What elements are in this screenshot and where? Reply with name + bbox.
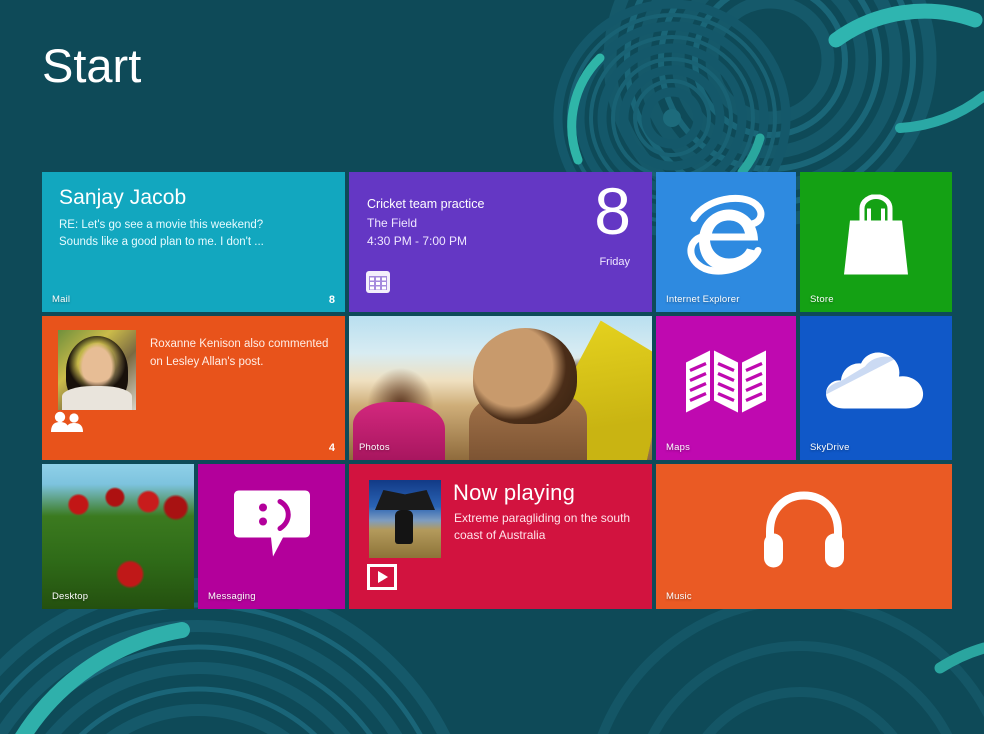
calendar-event-title: Cricket team practice	[367, 197, 484, 211]
mail-sender: Sanjay Jacob	[59, 186, 186, 210]
tile-label-internet-explorer: Internet Explorer	[666, 294, 740, 305]
shopping-bag-icon	[840, 194, 912, 281]
tile-label-mail: Mail	[52, 294, 70, 305]
internet-explorer-icon	[680, 192, 772, 283]
mail-subject: RE: Let's go see a movie this weekend?	[59, 217, 331, 234]
tile-calendar[interactable]: Cricket team practice The Field 4:30 PM …	[349, 172, 652, 312]
calendar-day-number: 8	[594, 178, 631, 244]
now-playing-description: Extreme paragliding on the south coast o…	[454, 510, 636, 545]
tile-desktop[interactable]: Desktop	[42, 464, 194, 609]
calendar-icon	[365, 269, 391, 300]
tile-label-maps: Maps	[666, 442, 690, 453]
tile-grid: Sanjay Jacob RE: Let's go see a movie th…	[42, 172, 952, 626]
calendar-day-name: Friday	[599, 256, 630, 268]
cloud-icon	[824, 350, 928, 417]
tile-video[interactable]: Now playing Extreme paragliding on the s…	[349, 464, 652, 609]
calendar-event-time: 4:30 PM - 7:00 PM	[367, 234, 467, 248]
tile-label-desktop: Desktop	[52, 591, 88, 602]
tile-label-photos: Photos	[359, 442, 390, 453]
mail-badge-count: 8	[329, 294, 335, 306]
people-icon	[51, 411, 85, 438]
tile-music[interactable]: Music	[656, 464, 952, 609]
page-title: Start	[42, 42, 141, 89]
desktop-wallpaper-thumbnail	[42, 464, 194, 609]
tile-label-music: Music	[666, 591, 692, 602]
photo-thumbnail	[349, 316, 652, 460]
tile-label-skydrive: SkyDrive	[810, 442, 850, 453]
start-screen: Start Sanjay Jacob RE: Let's go see a mo…	[0, 0, 984, 734]
tile-label-store: Store	[810, 294, 834, 305]
video-play-icon	[367, 564, 397, 595]
headphones-icon	[762, 490, 846, 575]
folded-map-icon	[684, 344, 768, 423]
tile-messaging[interactable]: Messaging	[198, 464, 345, 609]
mail-preview: Sounds like a good plan to me. I don't .…	[59, 234, 331, 251]
tile-people[interactable]: Roxanne Kenison also commented on Lesley…	[42, 316, 345, 460]
tile-mail[interactable]: Sanjay Jacob RE: Let's go see a movie th…	[42, 172, 345, 312]
people-update-text: Roxanne Kenison also commented on Lesley…	[150, 336, 329, 372]
tile-label-messaging: Messaging	[208, 591, 256, 602]
video-thumbnail	[369, 480, 441, 558]
now-playing-title: Now playing	[453, 480, 575, 506]
avatar	[58, 330, 136, 410]
tile-skydrive[interactable]: SkyDrive	[800, 316, 952, 460]
tile-photos[interactable]: Photos	[349, 316, 652, 460]
tile-maps[interactable]: Maps	[656, 316, 796, 460]
people-badge-count: 4	[329, 442, 335, 454]
calendar-event-location: The Field	[367, 216, 417, 230]
tile-store[interactable]: Store	[800, 172, 952, 312]
chat-bubble-smiley-icon	[233, 489, 311, 564]
tile-internet-explorer[interactable]: Internet Explorer	[656, 172, 796, 312]
